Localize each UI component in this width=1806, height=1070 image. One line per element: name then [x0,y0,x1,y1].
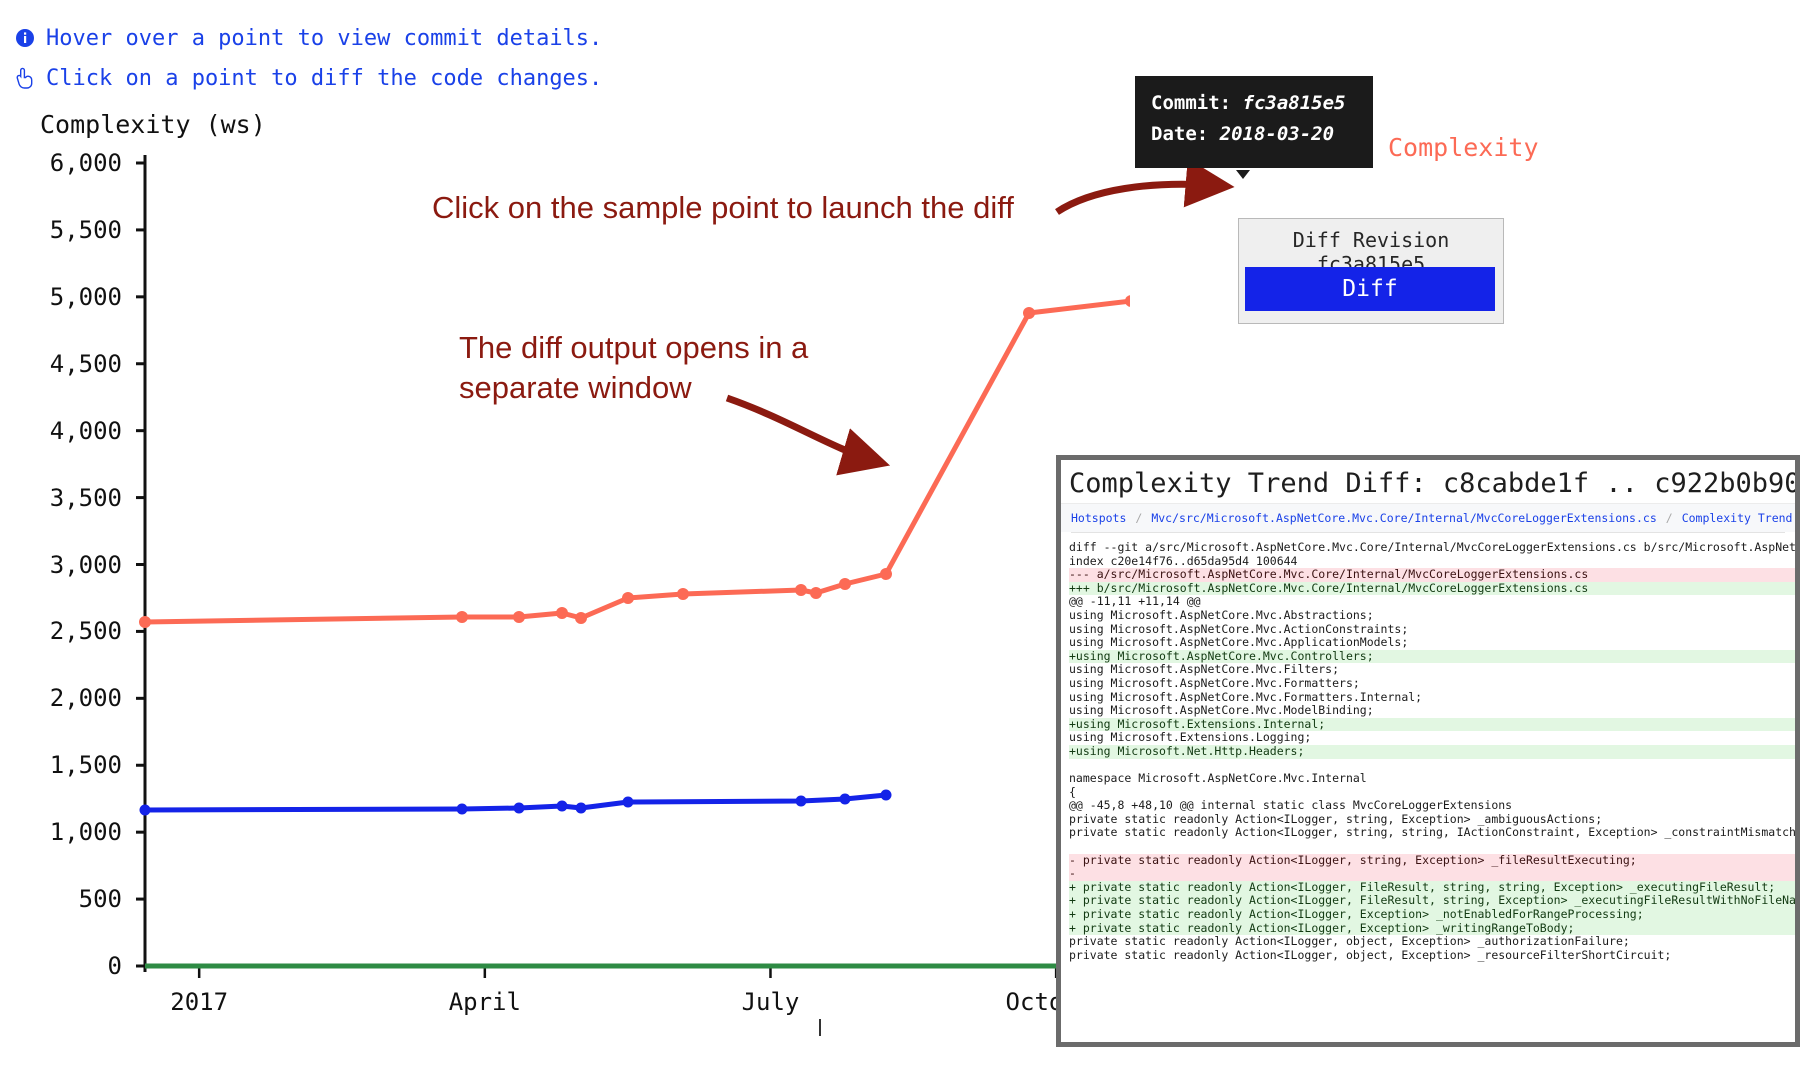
diff-code-line: - [1069,867,1795,881]
chart-data-point[interactable] [139,616,151,628]
chart-plot-area[interactable] [0,100,1130,1040]
tooltip-date-value: 2018-03-20 [1220,123,1334,145]
tooltip-commit-value: fc3a815e5 [1243,92,1346,114]
diff-code-line: +using Microsoft.AspNetCore.Mvc.Controll… [1069,650,1795,664]
chart-data-point[interactable] [457,804,468,815]
pointing-hand-icon [14,67,36,89]
chart-data-point[interactable] [810,587,822,599]
series-label-complexity: Complexity [1388,133,1539,162]
commit-tooltip: Commit: fc3a815e5 Date: 2018-03-20 [1135,76,1373,168]
tooltip-date-line: Date: 2018-03-20 [1151,119,1357,150]
breadcrumb-link[interactable]: Complexity Trend [1682,511,1793,525]
chart-data-point[interactable] [880,568,892,580]
diff-window-annotation-line: The diff output opens in a [459,328,808,368]
chart-data-point[interactable] [881,790,892,801]
tooltip-commit-label: Commit: [1151,92,1231,114]
diff-code-body: diff --git a/src/Microsoft.AspNetCore.Mv… [1061,533,1795,962]
chart-data-point[interactable] [456,611,468,623]
chart-data-point[interactable] [840,794,851,805]
diff-code-line: using Microsoft.Extensions.Logging; [1069,731,1795,745]
breadcrumb-separator: / [1135,511,1142,525]
diff-code-line: index c20e14f76..d65da95d4 100644 [1069,555,1795,569]
diff-code-line: + private static readonly Action<ILogger… [1069,922,1795,936]
chart-data-point[interactable] [575,612,587,624]
diff-code-line: private static readonly Action<ILogger, … [1069,813,1795,827]
diff-code-line: using Microsoft.AspNetCore.Mvc.Abstracti… [1069,609,1795,623]
chart-data-point[interactable] [623,797,634,808]
info-icon [14,27,36,49]
diff-code-line: using Microsoft.AspNetCore.Mvc.Formatter… [1069,677,1795,691]
chart-data-point[interactable] [557,801,568,812]
text-caret-icon [819,1019,821,1036]
diff-window[interactable]: Complexity Trend Diff: c8cabde1f .. c922… [1056,455,1800,1047]
diff-code-line: private static readonly Action<ILogger, … [1069,949,1795,963]
tooltip-date-label: Date: [1151,123,1208,145]
hint-click: Click on a point to diff the code change… [14,58,602,98]
hint-click-label: Click on a point to diff the code change… [46,66,602,91]
complexity-trend-chart: Complexity (ws) 05001,0001,5002,0002,500… [0,100,1130,1040]
diff-window-annotation-line: separate window [459,368,808,408]
diff-code-line: { [1069,786,1795,800]
hint-hover: Hover over a point to view commit detail… [14,18,602,58]
breadcrumb: Hotspots/Mvc/src/Microsoft.AspNetCore.Mv… [1061,503,1795,532]
diff-code-line: + private static readonly Action<ILogger… [1069,881,1795,895]
diff-code-line: +++ b/src/Microsoft.AspNetCore.Mvc.Core/… [1069,582,1795,596]
chart-data-point[interactable] [514,803,525,814]
chart-data-point[interactable] [513,611,525,623]
diff-code-line: using Microsoft.AspNetCore.Mvc.Formatter… [1069,691,1795,705]
tooltip-pointer-icon [1236,170,1250,179]
chart-data-point[interactable] [839,578,851,590]
diff-window-title: Complexity Trend Diff: c8cabde1f .. c922… [1061,460,1795,503]
diff-code-line: - private static readonly Action<ILogger… [1069,854,1795,868]
diff-code-line [1069,840,1795,854]
diff-code-line: diff --git a/src/Microsoft.AspNetCore.Mv… [1069,541,1795,555]
diff-button[interactable]: Diff [1245,267,1495,311]
chart-data-point[interactable] [1023,307,1035,319]
diff-code-line: private static readonly Action<ILogger, … [1069,935,1795,949]
diff-code-line: @@ -11,11 +11,14 @@ [1069,595,1795,609]
breadcrumb-separator: / [1666,511,1673,525]
chart-data-point[interactable] [556,607,568,619]
diff-code-line: @@ -45,8 +48,10 @@ internal static class… [1069,799,1795,813]
diff-code-line: + private static readonly Action<ILogger… [1069,908,1795,922]
chart-data-point[interactable] [140,805,151,816]
hint-hover-label: Hover over a point to view commit detail… [46,26,602,51]
chart-data-point[interactable] [622,592,634,604]
chart-data-point[interactable] [1125,295,1130,307]
hint-list: Hover over a point to view commit detail… [14,18,602,98]
chart-data-point[interactable] [796,796,807,807]
diff-code-line: using Microsoft.AspNetCore.Mvc.Filters; [1069,663,1795,677]
click-sample-point-annotation: Click on the sample point to launch the … [432,190,1014,226]
breadcrumb-link[interactable]: Hotspots [1071,511,1126,525]
tooltip-commit-line: Commit: fc3a815e5 [1151,88,1357,119]
diff-code-line: using Microsoft.AspNetCore.Mvc.ModelBind… [1069,704,1795,718]
diff-code-line: using Microsoft.AspNetCore.Mvc.Applicati… [1069,636,1795,650]
diff-code-line [1069,759,1795,773]
diff-code-line: using Microsoft.AspNetCore.Mvc.ActionCon… [1069,623,1795,637]
chart-data-point[interactable] [576,803,587,814]
diff-window-annotation: The diff output opens in aseparate windo… [459,328,808,408]
breadcrumb-link[interactable]: Mvc/src/Microsoft.AspNetCore.Mvc.Core/In… [1151,511,1656,525]
chart-data-point[interactable] [677,588,689,600]
diff-code-line: + private static readonly Action<ILogger… [1069,894,1795,908]
diff-code-line: --- a/src/Microsoft.AspNetCore.Mvc.Core/… [1069,568,1795,582]
chart-data-point[interactable] [795,584,807,596]
diff-revision-popup: Diff Revision fc3a815e5 Diff [1238,218,1504,324]
diff-code-line: namespace Microsoft.AspNetCore.Mvc.Inter… [1069,772,1795,786]
diff-code-line: private static readonly Action<ILogger, … [1069,826,1795,840]
diff-code-line: +using Microsoft.Net.Http.Headers; [1069,745,1795,759]
diff-code-line: +using Microsoft.Extensions.Internal; [1069,718,1795,732]
